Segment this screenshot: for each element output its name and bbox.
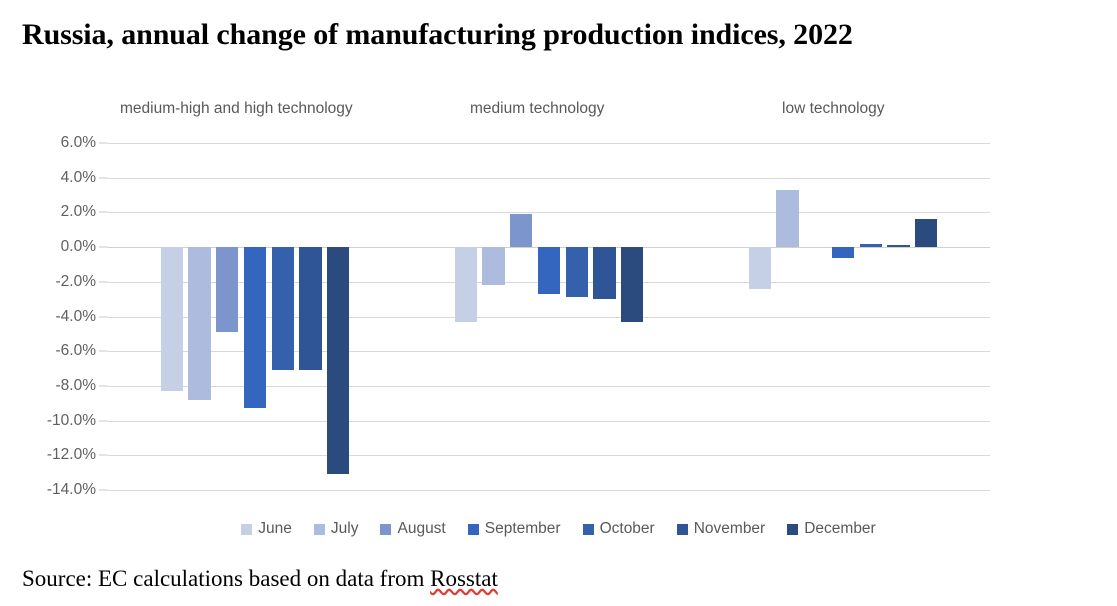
y-axis-tick-mark [99, 316, 108, 317]
gridline [108, 178, 990, 179]
group-label: medium-high and high technology [120, 100, 353, 118]
legend-label: October [600, 520, 655, 538]
bar-chart: 6.0%4.0%2.0%0.0%-2.0%-4.0%-6.0%-8.0%-10.… [0, 100, 1117, 520]
legend-label: August [397, 520, 445, 538]
bar-july-3 [776, 190, 798, 247]
y-axis-tick-label: -14.0% [0, 481, 96, 499]
group-label: medium technology [470, 100, 604, 118]
y-axis-tick-mark [99, 385, 108, 386]
legend-label: June [258, 520, 292, 538]
y-axis-tick-label: 0.0% [0, 238, 96, 256]
chart-legend: JuneJulyAugustSeptemberOctoberNovemberDe… [0, 520, 1117, 538]
gridline [108, 386, 990, 387]
bar-december-3 [915, 219, 937, 247]
bar-november-2 [593, 247, 615, 299]
bar-december-2 [621, 247, 643, 322]
group-label: low technology [782, 100, 885, 118]
bar-october-3 [860, 244, 882, 247]
plot-area [108, 143, 990, 490]
legend-item-june[interactable]: June [241, 520, 292, 538]
legend-item-december[interactable]: December [787, 520, 876, 538]
gridline [108, 143, 990, 144]
y-axis-tick-mark [99, 351, 108, 352]
legend-item-november[interactable]: November [677, 520, 766, 538]
y-axis-tick-mark [99, 281, 108, 282]
y-axis-tick-label: -8.0% [0, 377, 96, 395]
y-axis-tick-label: -6.0% [0, 342, 96, 360]
gridline [108, 351, 990, 352]
y-axis-tick-mark [99, 212, 108, 213]
y-axis-tick-mark [99, 420, 108, 421]
bar-september-1 [244, 247, 266, 408]
source-text: Source: EC calculations based on data fr… [22, 566, 430, 591]
source-flagged-word: Rosstat [430, 566, 498, 591]
legend-swatch-icon [677, 524, 688, 535]
legend-swatch-icon [787, 524, 798, 535]
gridline [108, 490, 990, 491]
y-axis-tick-mark [99, 247, 108, 248]
bar-september-3 [832, 247, 854, 257]
legend-item-september[interactable]: September [468, 520, 561, 538]
legend-swatch-icon [241, 524, 252, 535]
legend-label: July [331, 520, 359, 538]
y-axis-tick-mark [99, 455, 108, 456]
y-axis-tick-label: -12.0% [0, 446, 96, 464]
y-axis-tick-mark [99, 143, 108, 144]
bar-june-1 [161, 247, 183, 391]
y-axis-tick-mark [99, 490, 108, 491]
y-axis-tick-label: 2.0% [0, 203, 96, 221]
legend-item-july[interactable]: July [314, 520, 359, 538]
bar-june-2 [455, 247, 477, 322]
bar-july-1 [188, 247, 210, 400]
y-axis-tick-label: -4.0% [0, 308, 96, 326]
bar-october-2 [566, 247, 588, 297]
gridline [108, 317, 990, 318]
y-axis-tick-mark [99, 177, 108, 178]
bar-august-2 [510, 214, 532, 247]
bar-october-1 [272, 247, 294, 370]
legend-label: November [694, 520, 766, 538]
gridline [108, 455, 990, 456]
bar-july-2 [482, 247, 504, 285]
y-axis-tick-label: 4.0% [0, 169, 96, 187]
legend-item-august[interactable]: August [380, 520, 445, 538]
y-axis-tick-label: 6.0% [0, 134, 96, 152]
legend-swatch-icon [380, 524, 391, 535]
bar-september-2 [538, 247, 560, 294]
legend-swatch-icon [468, 524, 479, 535]
bar-august-1 [216, 247, 238, 332]
gridline [108, 421, 990, 422]
y-axis-tick-label: -10.0% [0, 412, 96, 430]
legend-label: December [804, 520, 876, 538]
y-axis-tick-label: -2.0% [0, 273, 96, 291]
source-note: Source: EC calculations based on data fr… [22, 566, 498, 592]
gridline [108, 212, 990, 213]
page-title: Russia, annual change of manufacturing p… [22, 18, 853, 52]
bar-november-3 [887, 245, 909, 247]
bar-june-3 [749, 247, 771, 289]
legend-swatch-icon [583, 524, 594, 535]
bar-december-1 [327, 247, 349, 474]
legend-label: September [485, 520, 561, 538]
legend-swatch-icon [314, 524, 325, 535]
legend-item-october[interactable]: October [583, 520, 655, 538]
bar-november-1 [299, 247, 321, 370]
